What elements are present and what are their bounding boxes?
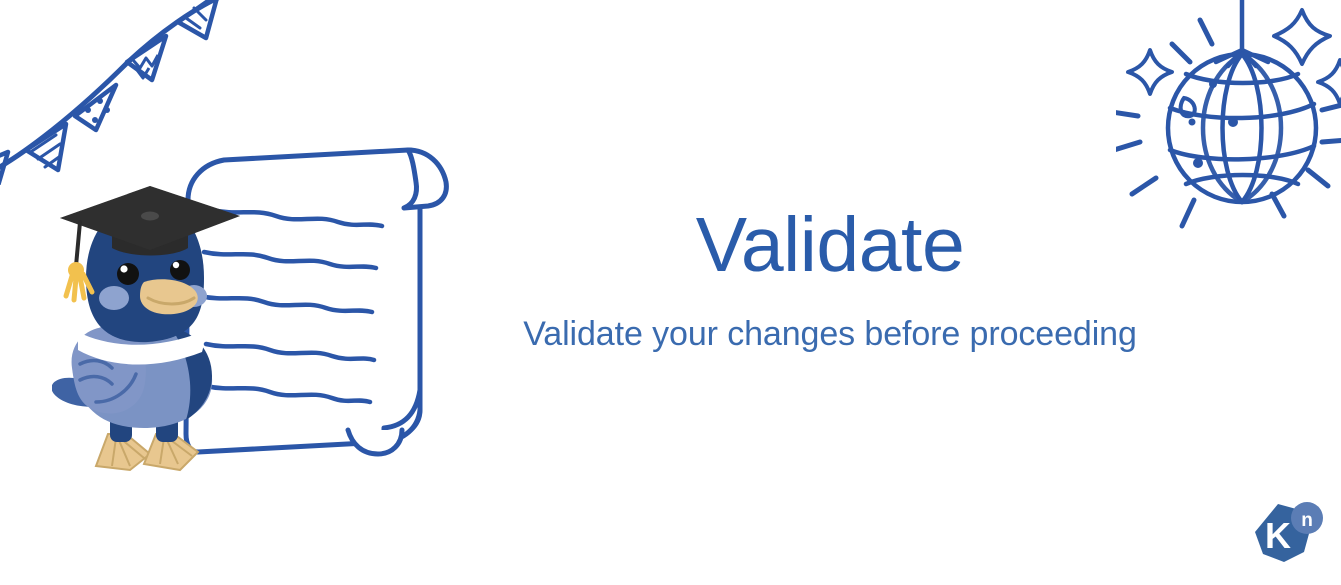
graduate-bird-mascot [52, 182, 257, 477]
logo-letter-n: n [1301, 510, 1313, 531]
kubernetes-logo-icon: K n [1248, 500, 1328, 572]
disco-ball-icon [1116, 0, 1341, 235]
scroll-icon [176, 138, 466, 463]
brand-logo[interactable]: K n [1248, 500, 1328, 572]
page-title: Validate [480, 206, 1180, 285]
page-subtitle: Validate your changes before proceeding [480, 313, 1180, 356]
text-block: Validate Validate your changes before pr… [480, 206, 1180, 355]
disco-ball-decoration [1116, 0, 1341, 235]
diploma-scroll-illustration [176, 138, 466, 463]
bunting-icon [0, 0, 230, 185]
slide-canvas: Validate Validate your changes before pr… [0, 0, 1341, 585]
logo-letter-k: K [1265, 515, 1291, 556]
bunting-garland-decoration [0, 0, 230, 185]
bird-icon [52, 182, 257, 477]
